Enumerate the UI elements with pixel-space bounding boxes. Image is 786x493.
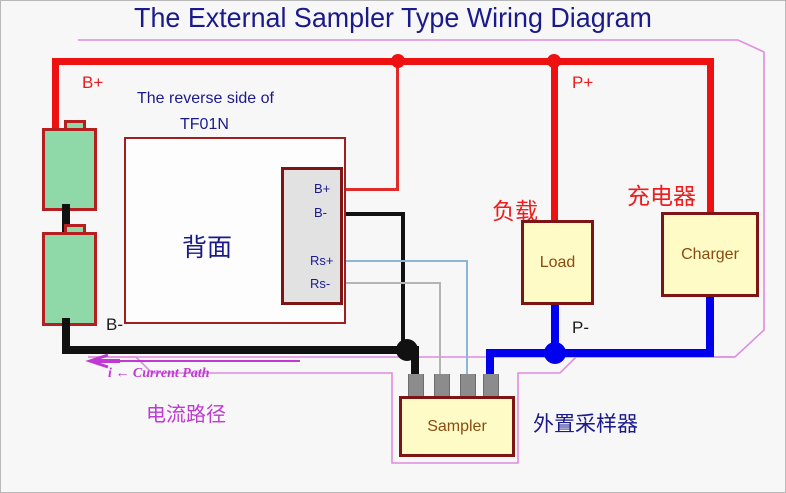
battery-cell-1 — [42, 128, 97, 211]
terminal-label-p-plus: P+ — [572, 73, 593, 93]
sampler-pin-4 — [483, 374, 499, 398]
wire-rs-minus-horizontal — [337, 282, 441, 284]
wire-p-plus-charger-drop — [707, 58, 714, 213]
wire-p-plus-load-drop — [551, 58, 558, 221]
wire-rs-plus-vertical — [466, 260, 468, 383]
sampler-box: Sampler — [399, 396, 515, 457]
wiring-diagram-canvas: The External Sampler Type Wiring Diagram — [0, 0, 786, 493]
board-caption-line1: The reverse side of — [137, 90, 274, 108]
connector-pin-label-rs-plus: Rs+ — [310, 253, 333, 268]
junction-dot-bplus — [391, 54, 405, 68]
terminal-label-p-minus: P- — [572, 318, 589, 338]
connector-pin-label-b-minus: B- — [314, 205, 327, 220]
connector-pin-label-b-plus: B+ — [314, 181, 330, 196]
terminal-label-b-plus: B+ — [82, 73, 103, 93]
wire-connector-bplus-vertical — [396, 61, 399, 191]
wire-connector-bplus-horizontal — [337, 188, 399, 191]
junction-dot-pminus — [544, 342, 566, 364]
sampler-caption: 外置采样器 — [533, 408, 638, 438]
wire-b-minus-rail — [62, 346, 418, 354]
wire-rs-plus-horizontal — [337, 260, 468, 262]
battery-cell-2 — [42, 232, 97, 326]
wire-p-minus-rail — [486, 349, 714, 357]
sampler-label: Sampler — [427, 418, 487, 436]
page-title: The External Sampler Type Wiring Diagram — [16, 2, 771, 34]
terminal-label-b-minus: B- — [106, 315, 123, 335]
charger-box: Charger — [661, 212, 759, 297]
junction-dot-bminus — [396, 339, 418, 361]
sampler-pin-1 — [408, 374, 424, 398]
current-path-label-en: i ← Current Path — [108, 366, 210, 382]
wire-charger-negative-drop — [706, 290, 714, 354]
current-path-label-cn: 电流路径 — [146, 398, 226, 427]
charger-label: Charger — [681, 246, 739, 264]
wire-rs-minus-vertical — [439, 282, 441, 383]
wire-connector-bminus-vertical — [401, 212, 405, 350]
wire-connector-bminus-horizontal — [337, 212, 405, 216]
charger-caption: 充电器 — [627, 177, 696, 211]
wire-b-plus-left-drop — [52, 58, 59, 130]
board-inner-label: 背面 — [182, 228, 232, 264]
board-caption-line2: TF01N — [180, 116, 229, 134]
junction-dot-pplus — [547, 54, 561, 68]
load-box: Load — [521, 220, 594, 305]
load-label: Load — [540, 254, 576, 272]
wire-b-plus-top-rail — [52, 58, 714, 65]
connector-pin-label-rs-minus: Rs- — [310, 276, 330, 291]
sampler-pin-2 — [434, 374, 450, 398]
sampler-pin-3 — [460, 374, 476, 398]
